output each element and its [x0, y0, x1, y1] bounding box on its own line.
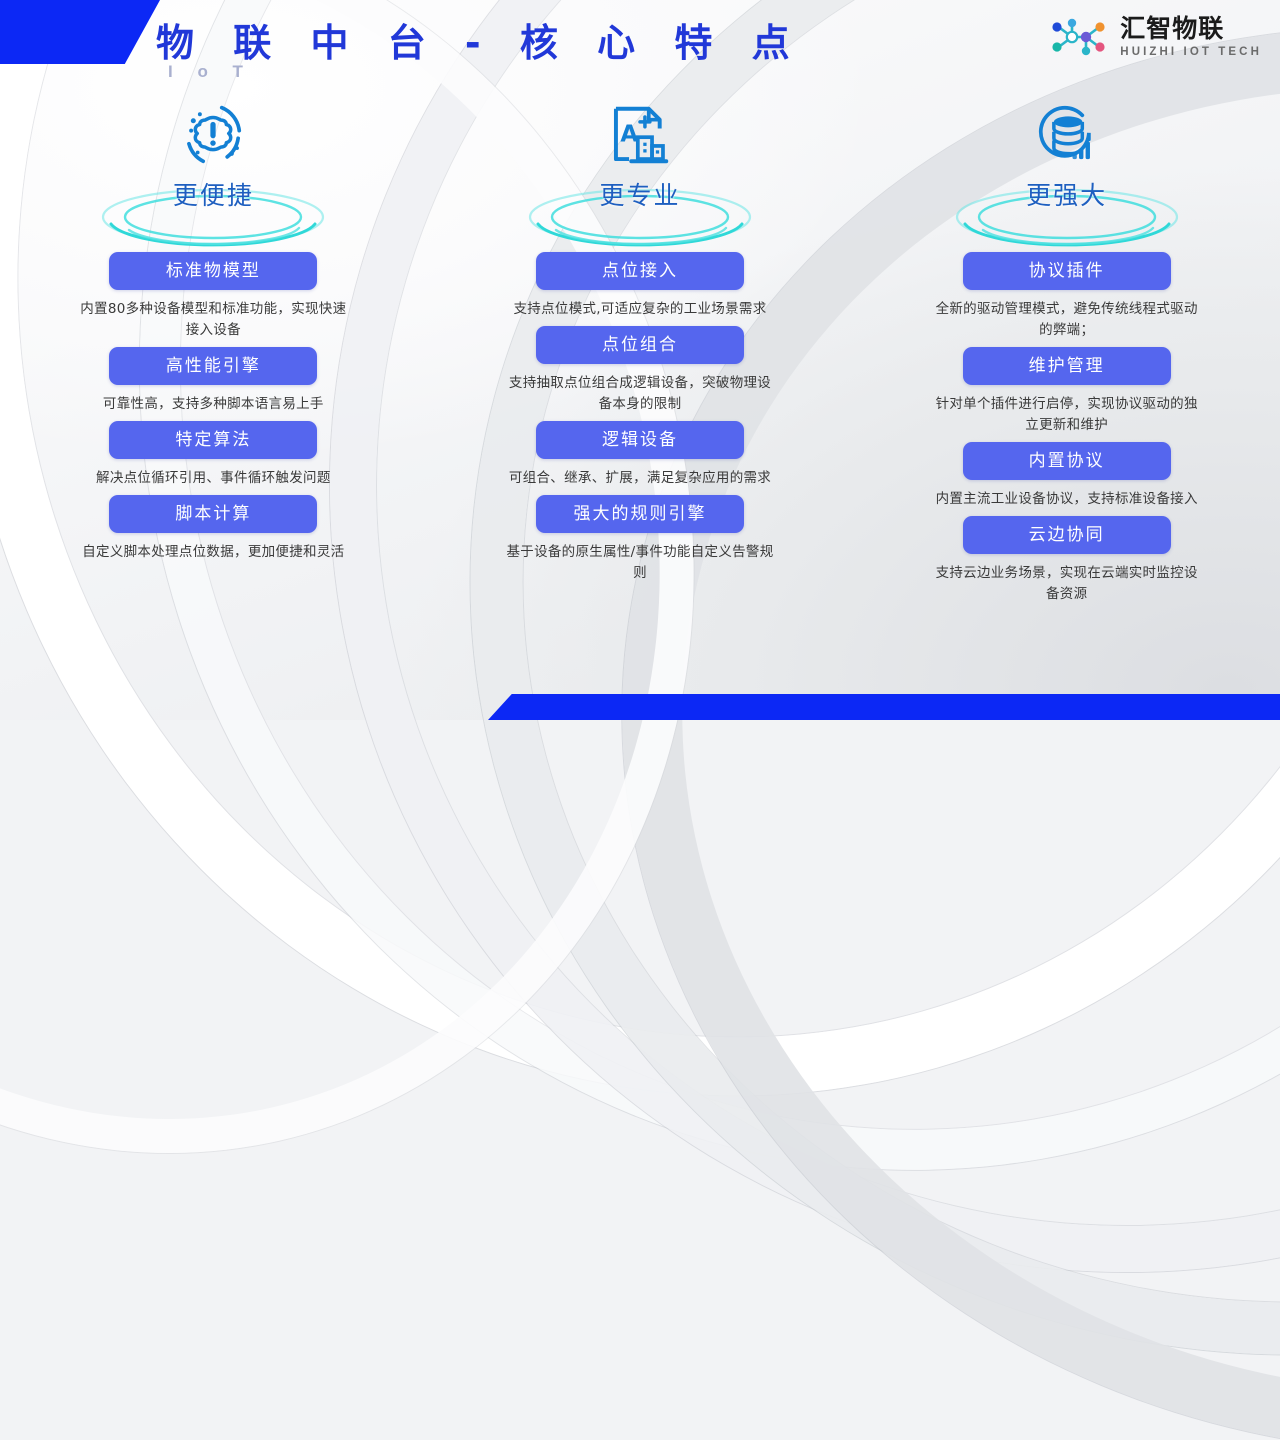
slide-header: 物 联 中 台 - 核 心 特 点 I o T 汇智物联 HUIZHI IOT …	[0, 0, 1280, 92]
feature-description: 支持云边业务场景，实现在云端实时监控设备资源	[933, 563, 1201, 605]
column-header-1: 更便捷	[0, 92, 427, 252]
feature-label[interactable]: 特定算法	[109, 421, 317, 459]
company-logo: 汇智物联 HUIZHI IOT TECH	[1048, 16, 1262, 59]
feature-description: 针对单个插件进行启停，实现协议驱动的独立更新和维护	[933, 394, 1201, 436]
feature-columns: 更便捷 标准物模型 内置80多种设备模型和标准功能，实现快速接入设备 高性能引擎…	[0, 92, 1280, 720]
feature-card: 特定算法 解决点位循环引用、事件循环触发问题	[4, 421, 423, 489]
logo-name-en: HUIZHI IOT TECH	[1120, 47, 1262, 59]
brain-gear-icon	[178, 100, 248, 170]
feature-list-1: 标准物模型 内置80多种设备模型和标准功能，实现快速接入设备 高性能引擎 可靠性…	[0, 252, 427, 563]
database-stack-chart-icon	[1032, 100, 1102, 170]
feature-column-3: 更强大 协议插件 全新的驱动管理模式，避免传统线程式驱动的弊端； 维护管理 针对…	[853, 92, 1280, 720]
feature-card: 脚本计算 自定义脚本处理点位数据，更加便捷和灵活	[4, 495, 423, 563]
feature-card: 云边协同 支持云边业务场景，实现在云端实时监控设备资源	[857, 516, 1276, 605]
feature-card: 点位接入 支持点位模式,可适应复杂的工业场景需求	[431, 252, 850, 320]
feature-label[interactable]: 协议插件	[963, 252, 1171, 290]
feature-card: 强大的规则引擎 基于设备的原生属性/事件功能自定义告警规则	[431, 495, 850, 584]
column-title-2: 更专业	[599, 176, 680, 212]
feature-label[interactable]: 点位接入	[536, 252, 744, 290]
feature-description: 支持抽取点位组合成逻辑设备，突破物理设备本身的限制	[506, 373, 774, 415]
column-title-1: 更便捷	[173, 176, 254, 212]
feature-description: 全新的驱动管理模式，避免传统线程式驱动的弊端；	[933, 299, 1201, 341]
feature-card: 逻辑设备 可组合、继承、扩展，满足复杂应用的需求	[431, 421, 850, 489]
feature-label[interactable]: 标准物模型	[109, 252, 317, 290]
feature-column-2: A 更专业	[427, 92, 854, 720]
feature-label[interactable]: 维护管理	[963, 347, 1171, 385]
column-header-3: 更强大	[853, 92, 1280, 252]
molecule-network-logo-icon	[1048, 17, 1110, 57]
feature-label[interactable]: 点位组合	[536, 326, 744, 364]
feature-description: 支持点位模式,可适应复杂的工业场景需求	[506, 299, 774, 320]
feature-description: 解决点位循环引用、事件循环触发问题	[79, 468, 347, 489]
feature-card: 高性能引擎 可靠性高，支持多种脚本语言易上手	[4, 347, 423, 415]
feature-description: 可靠性高，支持多种脚本语言易上手	[79, 394, 347, 415]
feature-label[interactable]: 脚本计算	[109, 495, 317, 533]
feature-list-3: 协议插件 全新的驱动管理模式，避免传统线程式驱动的弊端； 维护管理 针对单个插件…	[853, 252, 1280, 605]
feature-description: 内置80多种设备模型和标准功能，实现快速接入设备	[79, 299, 347, 341]
bottom-blue-accent-bar	[488, 694, 1280, 720]
feature-label[interactable]: 高性能引擎	[109, 347, 317, 385]
column-header-2: A 更专业	[427, 92, 854, 252]
feature-card: 维护管理 针对单个插件进行启停，实现协议驱动的独立更新和维护	[857, 347, 1276, 436]
feature-description: 可组合、继承、扩展，满足复杂应用的需求	[506, 468, 774, 489]
feature-card: 协议插件 全新的驱动管理模式，避免传统线程式驱动的弊端；	[857, 252, 1276, 341]
feature-description: 基于设备的原生属性/事件功能自定义告警规则	[506, 542, 774, 584]
logo-name-cn: 汇智物联	[1120, 16, 1262, 41]
feature-label[interactable]: 云边协同	[963, 516, 1171, 554]
feature-column-1: 更便捷 标准物模型 内置80多种设备模型和标准功能，实现快速接入设备 高性能引擎…	[0, 92, 427, 720]
page-subtitle: I o T	[168, 62, 253, 82]
svg-text:A: A	[620, 122, 638, 148]
feature-list-2: 点位接入 支持点位模式,可适应复杂的工业场景需求 点位组合 支持抽取点位组合成逻…	[427, 252, 854, 584]
document-a-plus-building-icon: A	[605, 100, 675, 170]
logo-text-block: 汇智物联 HUIZHI IOT TECH	[1120, 16, 1262, 59]
feature-card: 点位组合 支持抽取点位组合成逻辑设备，突破物理设备本身的限制	[431, 326, 850, 415]
feature-label[interactable]: 强大的规则引擎	[536, 495, 744, 533]
feature-label[interactable]: 逻辑设备	[536, 421, 744, 459]
feature-card: 标准物模型 内置80多种设备模型和标准功能，实现快速接入设备	[4, 252, 423, 341]
column-title-3: 更强大	[1026, 176, 1107, 212]
feature-description: 自定义脚本处理点位数据，更加便捷和灵活	[79, 542, 347, 563]
feature-label[interactable]: 内置协议	[963, 442, 1171, 480]
feature-card: 内置协议 内置主流工业设备协议，支持标准设备接入	[857, 442, 1276, 510]
feature-description: 内置主流工业设备协议，支持标准设备接入	[933, 489, 1201, 510]
page-title: 物 联 中 台 - 核 心 特 点	[156, 12, 803, 67]
